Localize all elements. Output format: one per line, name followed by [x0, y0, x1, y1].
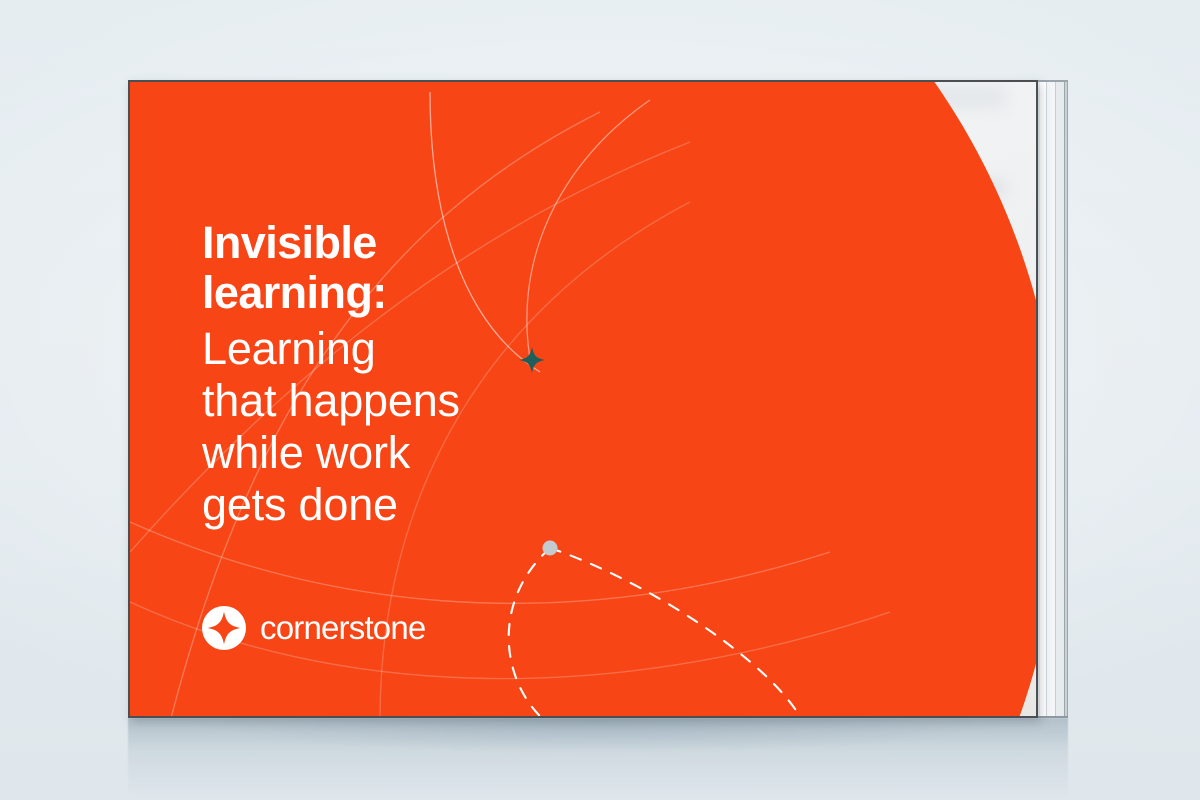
- page-edge-bottom-line: [1034, 716, 1068, 718]
- book-floor-shadow: [128, 718, 1068, 796]
- cover-text-block: Invisiblelearning: Learningthat happensw…: [202, 218, 532, 532]
- subtitle-line-2: that happens: [202, 375, 460, 426]
- logo-wordmark: cornerstone: [260, 609, 425, 647]
- cornerstone-star-icon: [202, 606, 246, 650]
- ebook-mockup[interactable]: Invisiblelearning: Learningthat happensw…: [128, 80, 1068, 718]
- subtitle-line-4: gets done: [202, 479, 398, 530]
- subtitle-line-1: Learning: [202, 323, 376, 374]
- title-line-1: Invisible: [202, 217, 377, 268]
- book-front-cover[interactable]: Invisiblelearning: Learningthat happensw…: [128, 80, 1038, 718]
- page-edge-top-line: [1034, 80, 1068, 82]
- page-edge-stack-1: [1046, 80, 1056, 718]
- subtitle-line-3: while work: [202, 427, 410, 478]
- page-subtitle: Learningthat happenswhile workgets done: [202, 323, 532, 532]
- page-edge-stack-inner: [1056, 80, 1065, 718]
- page-title: Invisiblelearning:: [202, 218, 532, 319]
- cornerstone-logo[interactable]: cornerstone: [202, 606, 425, 650]
- title-line-2: learning:: [202, 267, 387, 318]
